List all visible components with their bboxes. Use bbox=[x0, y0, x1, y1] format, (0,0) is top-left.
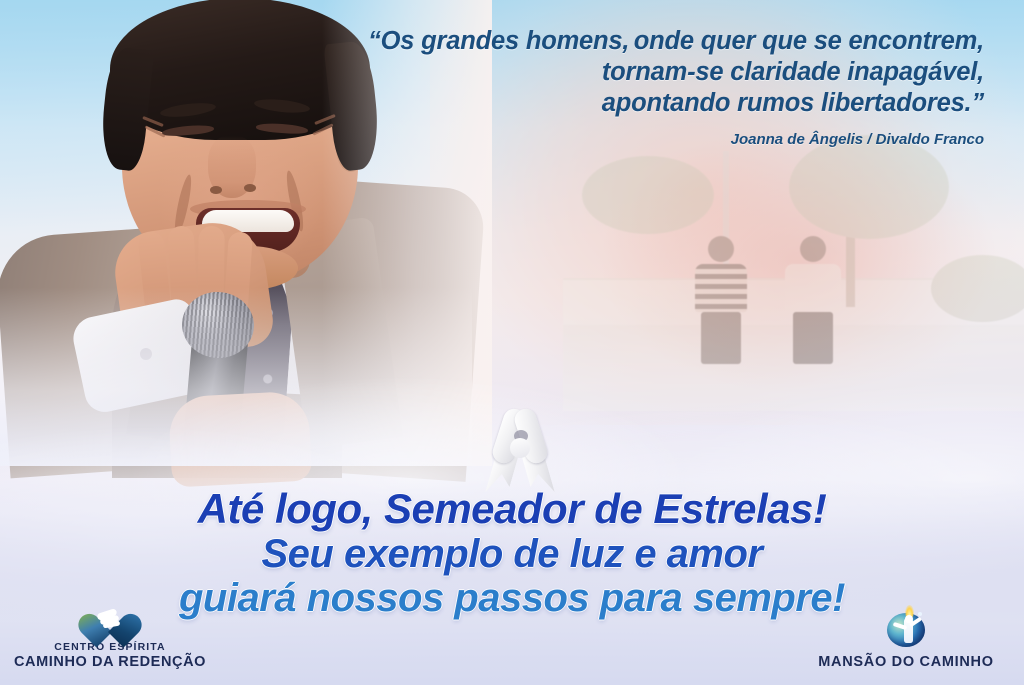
headline-line-1: Até logo, Semeador de Estrelas! bbox=[0, 486, 1024, 532]
scene-person-head bbox=[708, 236, 734, 262]
memorial-poster: “Os grandes homens, onde quer que se enc… bbox=[0, 0, 1024, 685]
scene-tree-foliage bbox=[582, 156, 714, 234]
portrait-nostril-left bbox=[210, 186, 222, 194]
hands-shape bbox=[97, 607, 125, 629]
logo-right-line-1: MANSÃO DO CAMINHO bbox=[796, 654, 1016, 671]
headline-line-2: Seu exemplo de luz e amor bbox=[0, 532, 1024, 576]
quote-block: “Os grandes homens, onde quer que se enc… bbox=[364, 26, 984, 148]
logo-left-line-2: CAMINHO DA REDENÇÃO bbox=[10, 654, 210, 671]
quote-line-4: apontando rumos libertadores.” bbox=[602, 89, 984, 117]
globe-with-figure-icon bbox=[885, 609, 927, 649]
ribbon-knot bbox=[510, 438, 530, 458]
quote-line-1: “Os grandes homens, bbox=[368, 27, 629, 55]
scene-person-head bbox=[800, 236, 826, 262]
logo-centro-espirita-caminho-da-redencao[interactable]: CENTRO ESPÍRITA CAMINHO DA REDENÇÃO bbox=[10, 600, 210, 671]
logo-mansao-do-caminho[interactable]: MANSÃO DO CAMINHO bbox=[796, 609, 1016, 671]
mourning-ribbon-icon bbox=[484, 408, 556, 492]
portrait-nostril-right bbox=[244, 184, 256, 192]
heart-with-hands-icon bbox=[90, 600, 130, 636]
quote-attribution: Joanna de Ângelis / Divaldo Franco bbox=[364, 131, 984, 148]
star-spark bbox=[918, 612, 922, 616]
logo-left-line-1: CENTRO ESPÍRITA bbox=[10, 641, 210, 654]
scene-tree-foliage bbox=[789, 135, 949, 239]
scene-person-striped-shirt bbox=[695, 264, 747, 312]
quote-line-3: tornam-se claridade inapagável, bbox=[602, 58, 984, 86]
scene-person-white-shirt bbox=[785, 264, 841, 312]
quote-line-2: onde quer que se encontrem, bbox=[634, 27, 984, 55]
